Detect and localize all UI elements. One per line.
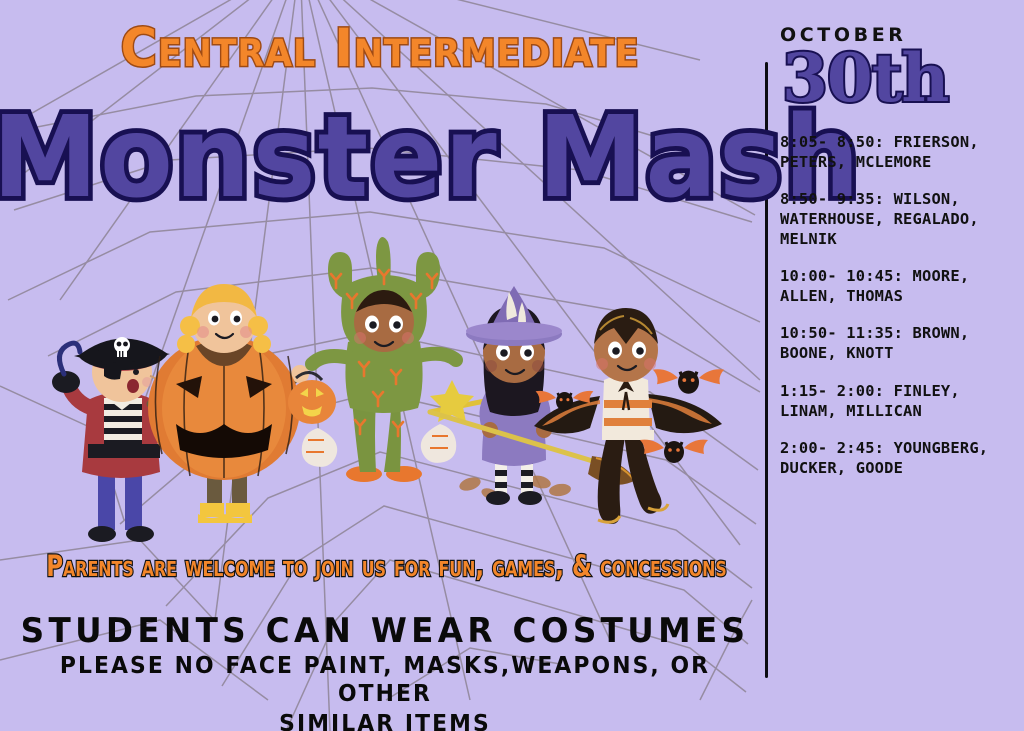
page-title-event: Monster Mash: [0, 101, 768, 213]
cactus-costume-kid: [302, 237, 530, 482]
event-day: 30th: [782, 47, 1024, 110]
pirate-costume-kid: [52, 337, 184, 542]
schedule-slot: 10:00- 10:45: MOORE, ALLEN, THOMAS: [780, 266, 1024, 306]
page-title-school: Central Intermediate: [23, 22, 737, 75]
costume-policy-headline: STUDENTS CAN WEAR COSTUMES: [15, 612, 754, 650]
vampire-costume-kid: [534, 308, 724, 524]
pumpkin-costume-kid: [148, 284, 336, 523]
schedule-slot: 8:05- 8:50: FRIERSON, PETERS, MCLEMORE: [780, 132, 1024, 172]
date-and-schedule-column: OCTOBER 30th 8:05- 8:50: FRIERSON, PETER…: [780, 26, 1024, 495]
costume-policy-block: STUDENTS CAN WEAR COSTUMES PLEASE NO FAC…: [0, 612, 770, 731]
schedule-slot: 8:50- 9:35: WILSON, WATERHOUSE, REGALADO…: [780, 189, 1024, 249]
candy-bucket-icon: [288, 372, 336, 424]
halloween-event-flyer: Central Intermediate Monster Mash Parent…: [0, 0, 1024, 731]
witch-costume-kid: [430, 286, 636, 505]
bat-icon: [536, 369, 725, 463]
skull-icon: [114, 337, 130, 357]
costume-policy-rule-line-2: SIMILAR ITEMS: [19, 710, 751, 731]
schedule-list: 8:05- 8:50: FRIERSON, PETERS, MCLEMORE 8…: [780, 132, 1024, 477]
schedule-slot: 1:15- 2:00: FINLEY, LINAM, MILLICAN: [780, 381, 1024, 421]
wand-icon: [430, 380, 530, 422]
parents-welcome-note: Parents are welcome to join us for fun, …: [46, 552, 724, 581]
costume-policy-rule-line-1: PLEASE NO FACE PAINT, MASKS,WEAPONS, OR …: [19, 652, 751, 708]
broom-icon: [430, 412, 636, 485]
schedule-slot: 2:00- 2:45: YOUNGBERG, DUCKER, GOODE: [780, 438, 1024, 478]
schedule-slot: 10:50- 11:35: BROWN, BOONE, KNOTT: [780, 323, 1024, 363]
witch-hat-icon: [466, 286, 562, 346]
